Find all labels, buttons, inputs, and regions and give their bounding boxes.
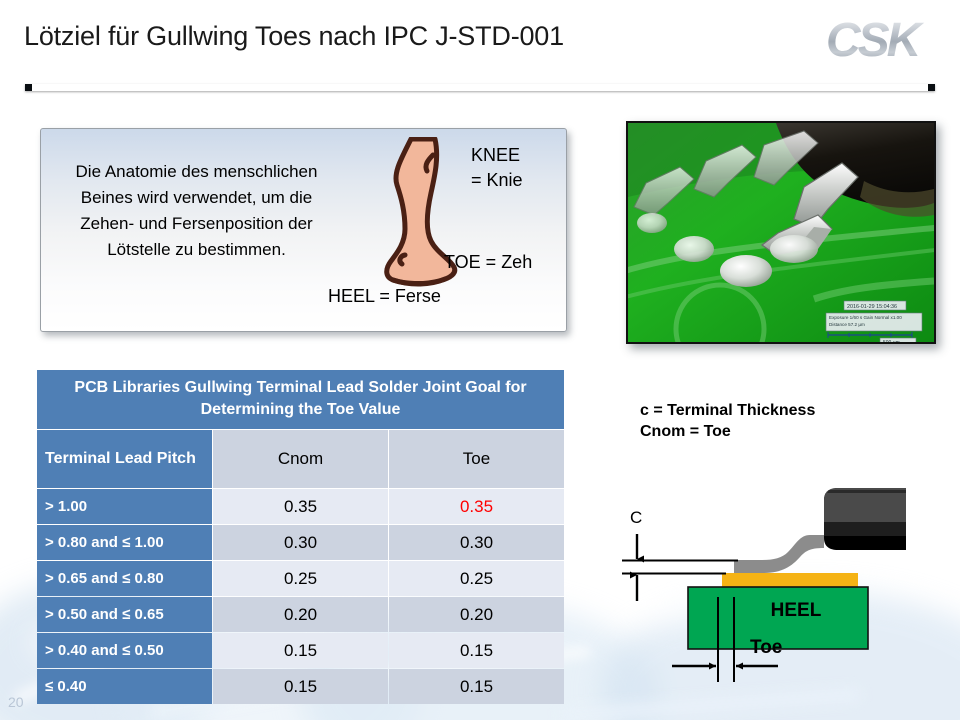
anatomy-description: Die Anatomie des menschlichen Beines wir… (59, 159, 334, 263)
cell-cnom: 0.15 (213, 669, 388, 704)
cell-cnom: 0.15 (213, 633, 388, 668)
toe-value-table: PCB Libraries Gullwing Terminal Lead Sol… (36, 369, 565, 705)
heel-label: HEEL = Ferse (328, 286, 441, 307)
cell-cnom: 0.25 (213, 561, 388, 596)
table-title: PCB Libraries Gullwing Terminal Lead Sol… (37, 370, 564, 429)
cell-toe: 0.30 (389, 525, 564, 560)
diagram-c-label: C (630, 508, 642, 527)
column-header-toe: Toe (389, 430, 564, 488)
table-row: > 0.80 and ≤ 1.00 0.30 0.30 (37, 525, 564, 560)
title-divider-bar (25, 84, 935, 91)
table-row: > 0.50 and ≤ 0.65 0.20 0.20 (37, 597, 564, 632)
cell-cnom: 0.20 (213, 597, 388, 632)
cell-toe: 0.15 (389, 633, 564, 668)
column-header-cnom: Cnom (213, 430, 388, 488)
anatomy-callout-box: Die Anatomie des menschlichen Beines wir… (40, 128, 567, 332)
knee-label: KNEE = Knie (471, 143, 523, 193)
cell-pitch: > 1.00 (37, 489, 212, 524)
cell-toe: 0.25 (389, 561, 564, 596)
cell-cnom: 0.35 (213, 489, 388, 524)
svg-text:500 µm: 500 µm (883, 340, 900, 342)
svg-text:Distance 57.2 µm: Distance 57.2 µm (829, 322, 865, 327)
gullwing-cross-section-diagram: HEEL C Toe (610, 440, 960, 690)
diagram-heel-label: HEEL (771, 600, 822, 621)
svg-text:Exposure 1/60 s Gain Norma: Exposure 1/60 s Gain Normal x1.00 (829, 315, 902, 320)
cell-pitch: > 0.40 and ≤ 0.50 (37, 633, 212, 668)
cell-pitch: > 0.80 and ≤ 1.00 (37, 525, 212, 560)
toe-label: TOE = Zeh (444, 252, 532, 273)
table-title-row: PCB Libraries Gullwing Terminal Lead Sol… (37, 370, 564, 429)
cell-toe: 0.35 (389, 489, 564, 524)
cell-toe: 0.20 (389, 597, 564, 632)
human-leg-icon (371, 137, 481, 297)
column-header-pitch: Terminal Lead Pitch (37, 430, 212, 488)
table-row: ≤ 0.40 0.15 0.15 (37, 669, 564, 704)
table-header-row: Terminal Lead Pitch Cnom Toe (37, 430, 564, 488)
page-title: Lötziel für Gullwing Toes nach IPC J-STD… (24, 21, 564, 52)
svg-text:CSK: CSK (826, 14, 925, 66)
cell-cnom: 0.30 (213, 525, 388, 560)
cell-pitch: ≤ 0.40 (37, 669, 212, 704)
cell-pitch: > 0.50 and ≤ 0.65 (37, 597, 212, 632)
diagram-toe-label: Toe (750, 637, 782, 658)
svg-text:2016-01-29 15:04:36: 2016-01-29 15:04:36 (847, 304, 897, 310)
slide-canvas: Lötziel für Gullwing Toes nach IPC J-STD… (0, 0, 960, 720)
table-row: > 0.40 and ≤ 0.50 0.15 0.15 (37, 633, 564, 668)
table-row: > 0.65 and ≤ 0.80 0.25 0.25 (37, 561, 564, 596)
diagram-legend: c = Terminal Thickness Cnom = Toe (640, 400, 815, 442)
cell-pitch: > 0.65 and ≤ 0.80 (37, 561, 212, 596)
table-row: > 1.00 0.35 0.35 (37, 489, 564, 524)
page-number: 20 (8, 694, 24, 710)
solder-joint-photo: 2016-01-29 15:04:36 Exposure 1/60 s Gain… (626, 121, 936, 344)
csk-logo: CSK (826, 14, 942, 66)
cell-toe: 0.15 (389, 669, 564, 704)
